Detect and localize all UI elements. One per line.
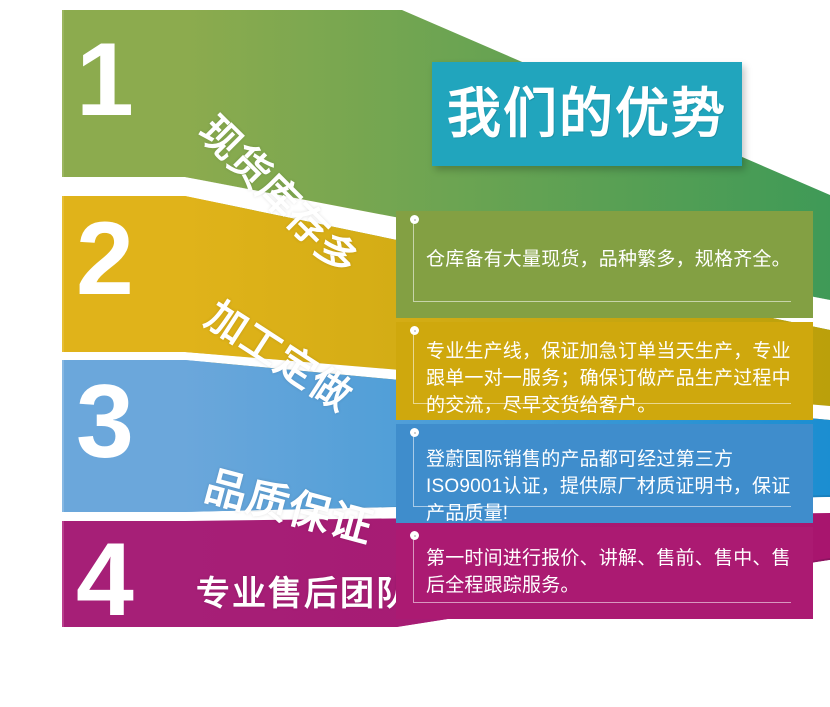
step-number-2: 2 <box>76 207 134 311</box>
description-panel-1: 仓库备有大量现货，品种繁多，规格齐全。 <box>396 211 813 318</box>
page-title: 我们的优势 <box>447 87 727 141</box>
description-text-3: 登蔚国际销售的产品都可经过第三方ISO9001认证，提供原厂材质证明书，保证产品… <box>426 447 791 528</box>
left-edge-strip <box>62 10 64 627</box>
description-panel-2: 专业生产线，保证加急订单当天生产，专业跟单一对一服务；确保订做产品生产过程中的交… <box>396 322 813 420</box>
description-panel-3: 登蔚国际销售的产品都可经过第三方ISO9001认证，提供原厂材质证明书，保证产品… <box>396 424 813 523</box>
advantages-infographic: 1 2 3 4 现货库存多 加工定做 品质保证 专业售后团队 我们的优势 仓库备… <box>0 0 830 707</box>
panel-dot-icon-2 <box>410 326 419 335</box>
panel-dot-icon-3 <box>410 428 419 437</box>
ribbon-label-4: 专业售后团队 <box>196 577 412 611</box>
description-panel-4: 第一时间进行报价、讲解、售前、售中、售后全程跟踪服务。 <box>396 527 813 619</box>
step-number-1: 1 <box>76 28 134 132</box>
panel-dot-icon-1 <box>410 215 419 224</box>
description-text-4: 第一时间进行报价、讲解、售前、售中、售后全程跟踪服务。 <box>426 546 791 600</box>
description-text-1: 仓库备有大量现货，品种繁多，规格齐全。 <box>426 247 791 274</box>
step-number-4: 4 <box>76 528 134 632</box>
step-number-3: 3 <box>76 370 134 474</box>
description-text-2: 专业生产线，保证加急订单当天生产，专业跟单一对一服务；确保订做产品生产过程中的交… <box>426 339 791 420</box>
title-badge: 我们的优势 <box>432 62 742 166</box>
panel-dot-icon-4 <box>410 531 419 540</box>
